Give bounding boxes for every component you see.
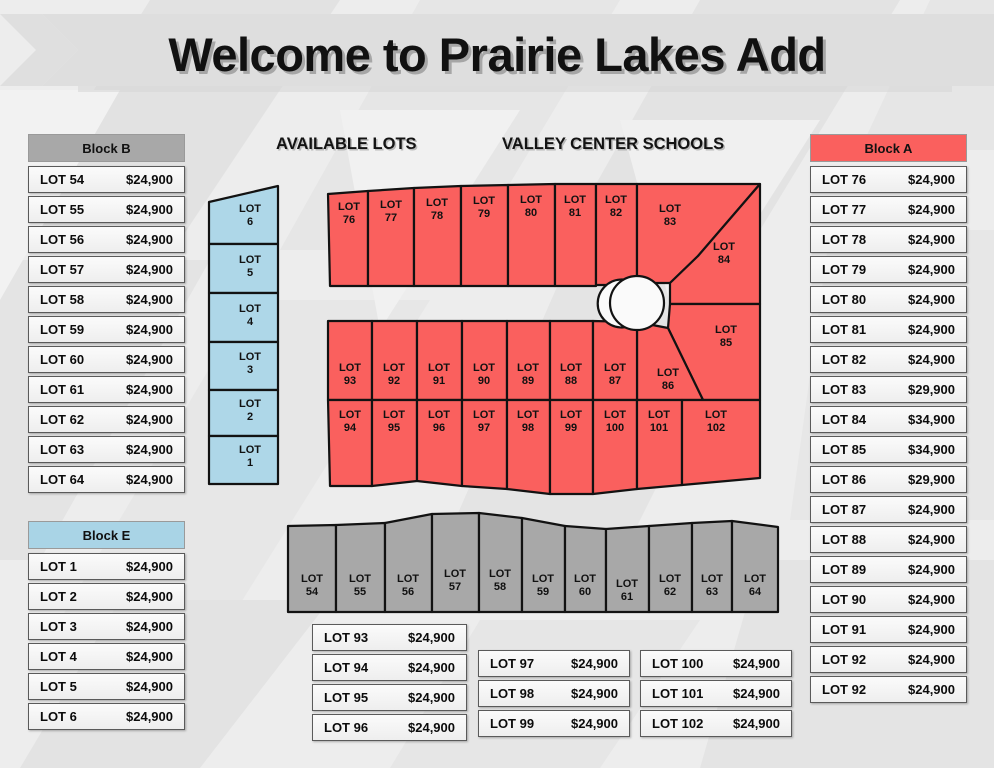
plat-block-a-bottom-row[interactable]: LOT 94 LOT 95 LOT 96 LOT 97 LOT 98 LOT 9… — [328, 400, 760, 494]
plat-label-lot-94-num: 94 — [344, 422, 357, 434]
plat-label-lot-83: LOT — [659, 203, 681, 215]
title-banner: Welcome to Prairie Lakes Add — [0, 8, 994, 100]
lots-97-99-price-value: $24,900 — [571, 686, 618, 701]
plat-label-lot-89: LOT — [517, 362, 539, 374]
plat-label-lot-81: LOT — [564, 194, 586, 206]
block-e-price-value: $24,900 — [126, 559, 173, 574]
plat-block-b-row[interactable]: LOT 54 LOT 55 LOT 56 LOT 57 LOT 58 LOT 5… — [288, 513, 778, 612]
plat-label-lot-86: LOT — [657, 367, 679, 379]
block-a-lot-label: LOT 85 — [822, 442, 866, 457]
plat-label-lot-4-num: 4 — [247, 316, 254, 328]
block-a-price-value: $24,900 — [908, 202, 955, 217]
plat-label-lot-100-num: 100 — [606, 422, 624, 434]
table-row[interactable]: LOT 97$24,900 — [478, 650, 630, 677]
plat-label-lot-87-num: 87 — [609, 375, 621, 387]
lots-93-96-lot-label: LOT 93 — [324, 630, 368, 645]
table-block-e-header: Block E — [28, 521, 185, 549]
block-b-lot-label: LOT 61 — [40, 382, 84, 397]
table-row[interactable]: LOT 57$24,900 — [28, 256, 185, 283]
table-row[interactable]: LOT 99$24,900 — [478, 710, 630, 737]
plat-label-lot-89-num: 89 — [522, 375, 534, 387]
plat-label-lot-86-num: 86 — [662, 380, 674, 392]
table-lots-100-102-rows: LOT 100$24,900LOT 101$24,900LOT 102$24,9… — [640, 650, 792, 737]
table-row[interactable]: LOT 88$24,900 — [810, 526, 967, 553]
plat-lot-62[interactable] — [649, 523, 692, 612]
table-row[interactable]: LOT 58$24,900 — [28, 286, 185, 313]
plat-label-lot-2-num: 2 — [247, 411, 253, 423]
table-block-a-header: Block A — [810, 134, 967, 162]
block-a-lot-label: LOT 78 — [822, 232, 866, 247]
plat-label-lot-92-num: 92 — [388, 375, 400, 387]
plat-label-lot-2: LOT — [239, 398, 261, 410]
lots-93-96-price-value: $24,900 — [408, 720, 455, 735]
plat-lot-2[interactable] — [209, 390, 278, 436]
lots-97-99-lot-label: LOT 97 — [490, 656, 534, 671]
block-e-price-value: $24,900 — [126, 679, 173, 694]
plat-label-lot-83-num: 83 — [664, 216, 676, 228]
plat-block-e-strip[interactable]: LOT 6 LOT 5 LOT 4 LOT 3 LOT 2 LOT 1 — [209, 186, 278, 484]
table-row[interactable]: LOT 81$24,900 — [810, 316, 967, 343]
block-a-lot-label: LOT 92 — [822, 652, 866, 667]
plat-label-lot-81-num: 81 — [569, 207, 581, 219]
block-a-price-value: $24,900 — [908, 562, 955, 577]
plat-label-lot-82: LOT — [605, 194, 627, 206]
plat-label-lot-102-num: 102 — [707, 422, 725, 434]
table-block-e: Block E LOT 1$24,900LOT 2$24,900LOT 3$24… — [28, 521, 185, 733]
plat-label-lot-98: LOT — [517, 409, 539, 421]
table-row[interactable]: LOT 84$34,900 — [810, 406, 967, 433]
block-b-price-value: $24,900 — [126, 442, 173, 457]
plat-label-lot-99: LOT — [560, 409, 582, 421]
block-a-lot-label: LOT 76 — [822, 172, 866, 187]
block-e-lot-label: LOT 4 — [40, 649, 77, 664]
table-row[interactable]: LOT 96$24,900 — [312, 714, 467, 741]
plat-label-lot-90-num: 90 — [478, 375, 490, 387]
plat-label-lot-88: LOT — [560, 362, 582, 374]
block-e-price-value: $24,900 — [126, 649, 173, 664]
plat-lot-89[interactable] — [507, 321, 550, 400]
block-b-price-value: $24,900 — [126, 232, 173, 247]
plat-label-lot-1: LOT — [239, 444, 261, 456]
table-row[interactable]: LOT 54$24,900 — [28, 166, 185, 193]
plat-map[interactable]: LOT 6 LOT 5 LOT 4 LOT 3 LOT 2 LOT 1 LOT … — [200, 178, 800, 628]
table-row[interactable]: LOT 94$24,900 — [312, 654, 467, 681]
table-row[interactable]: LOT 5$24,900 — [28, 673, 185, 700]
table-row[interactable]: LOT 86$29,900 — [810, 466, 967, 493]
lots-93-96-lot-label: LOT 94 — [324, 660, 368, 675]
table-row[interactable]: LOT 1$24,900 — [28, 553, 185, 580]
block-b-price-value: $24,900 — [126, 412, 173, 427]
block-b-price-value: $24,900 — [126, 352, 173, 367]
lots-100-102-price-value: $24,900 — [733, 716, 780, 731]
plat-label-lot-99-num: 99 — [565, 422, 577, 434]
plat-label-lot-85: LOT — [715, 324, 737, 336]
block-a-price-value: $24,900 — [908, 502, 955, 517]
table-block-b-header: Block B — [28, 134, 185, 162]
plat-label-lot-3: LOT — [239, 351, 261, 363]
plat-label-lot-64-num: 64 — [749, 586, 762, 598]
block-a-price-value: $24,900 — [908, 232, 955, 247]
block-b-lot-label: LOT 57 — [40, 262, 84, 277]
table-lots-100-102: LOT 100$24,900LOT 101$24,900LOT 102$24,9… — [640, 650, 792, 740]
plat-label-lot-96: LOT — [428, 409, 450, 421]
table-row[interactable]: LOT 83$29,900 — [810, 376, 967, 403]
plat-label-lot-90: LOT — [473, 362, 495, 374]
plat-label-lot-3-num: 3 — [247, 364, 253, 376]
plat-label-lot-64: LOT — [744, 573, 766, 585]
block-a-price-value: $29,900 — [908, 472, 955, 487]
plat-label-lot-60-num: 60 — [579, 586, 591, 598]
table-row[interactable]: LOT 90$24,900 — [810, 586, 967, 613]
block-a-price-value: $34,900 — [908, 412, 955, 427]
block-b-lot-label: LOT 60 — [40, 352, 84, 367]
block-e-price-value: $24,900 — [126, 619, 173, 634]
plat-label-lot-57: LOT — [444, 568, 466, 580]
block-b-price-value: $24,900 — [126, 202, 173, 217]
block-a-lot-label: LOT 77 — [822, 202, 866, 217]
plat-lot-54[interactable] — [288, 525, 336, 612]
plat-label-lot-80: LOT — [520, 194, 542, 206]
table-row[interactable]: LOT 77$24,900 — [810, 196, 967, 223]
plat-label-lot-79-num: 79 — [478, 208, 490, 220]
table-lots-97-99: LOT 97$24,900LOT 98$24,900LOT 99$24,900 — [478, 650, 630, 740]
plat-label-lot-93: LOT — [339, 362, 361, 374]
plat-label-lot-98-num: 98 — [522, 422, 534, 434]
table-row[interactable]: LOT 61$24,900 — [28, 376, 185, 403]
plat-lot-63[interactable] — [692, 521, 732, 612]
plat-label-lot-96-num: 96 — [433, 422, 445, 434]
page-title: Welcome to Prairie Lakes Add — [0, 8, 994, 100]
block-a-lot-label: LOT 79 — [822, 262, 866, 277]
plat-block-a-middle-row[interactable]: LOT 93 LOT 92 LOT 91 LOT 90 LOT 89 LOT 8… — [328, 321, 637, 400]
table-row[interactable]: LOT 87$24,900 — [810, 496, 967, 523]
block-a-price-value: $24,900 — [908, 352, 955, 367]
plat-lot-87[interactable] — [593, 321, 637, 400]
plat-label-lot-63: LOT — [701, 573, 723, 585]
table-row[interactable]: LOT 89$24,900 — [810, 556, 967, 583]
lots-93-96-price-value: $24,900 — [408, 690, 455, 705]
plat-label-lot-100: LOT — [604, 409, 626, 421]
lots-100-102-lot-label: LOT 100 — [652, 656, 703, 671]
plat-lot-90[interactable] — [462, 321, 507, 400]
table-block-a: Block A LOT 76$24,900LOT 77$24,900LOT 78… — [810, 134, 967, 706]
plat-label-lot-97: LOT — [473, 409, 495, 421]
block-a-lot-label: LOT 90 — [822, 592, 866, 607]
table-row[interactable]: LOT 78$24,900 — [810, 226, 967, 253]
block-a-lot-label: LOT 82 — [822, 352, 866, 367]
block-b-price-value: $24,900 — [126, 472, 173, 487]
block-b-price-value: $24,900 — [126, 322, 173, 337]
plat-label-lot-78-num: 78 — [431, 210, 443, 222]
plat-label-lot-6: LOT — [239, 203, 261, 215]
table-block-e-rows: LOT 1$24,900LOT 2$24,900LOT 3$24,900LOT … — [28, 553, 185, 730]
table-block-b-rows: LOT 54$24,900LOT 55$24,900LOT 56$24,900L… — [28, 166, 185, 493]
plat-label-lot-6-num: 6 — [247, 216, 253, 228]
block-b-lot-label: LOT 55 — [40, 202, 84, 217]
table-row[interactable]: LOT 55$24,900 — [28, 196, 185, 223]
table-row[interactable]: LOT 56$24,900 — [28, 226, 185, 253]
plat-label-lot-95-num: 95 — [388, 422, 400, 434]
block-e-lot-label: LOT 2 — [40, 589, 77, 604]
block-a-price-value: $24,900 — [908, 682, 955, 697]
table-lots-93-96: LOT 93$24,900LOT 94$24,900LOT 95$24,900L… — [312, 624, 467, 744]
plat-label-lot-5-num: 5 — [247, 267, 253, 279]
table-row[interactable]: LOT 76$24,900 — [810, 166, 967, 193]
block-a-price-value: $24,900 — [908, 172, 955, 187]
table-row[interactable]: LOT 80$24,900 — [810, 286, 967, 313]
block-e-lot-label: LOT 1 — [40, 559, 77, 574]
table-block-b: Block B LOT 54$24,900LOT 55$24,900LOT 56… — [28, 134, 185, 496]
block-b-lot-label: LOT 54 — [40, 172, 84, 187]
lots-100-102-lot-label: LOT 101 — [652, 686, 703, 701]
plat-label-lot-55-num: 55 — [354, 586, 366, 598]
table-row[interactable]: LOT 60$24,900 — [28, 346, 185, 373]
block-a-lot-label: LOT 92 — [822, 682, 866, 697]
plat-label-lot-77-num: 77 — [385, 212, 397, 224]
table-row[interactable]: LOT 2$24,900 — [28, 583, 185, 610]
block-e-price-value: $24,900 — [126, 589, 173, 604]
block-b-lot-label: LOT 63 — [40, 442, 84, 457]
plat-label-lot-5: LOT — [239, 254, 261, 266]
lots-93-96-price-value: $24,900 — [408, 660, 455, 675]
block-a-lot-label: LOT 80 — [822, 292, 866, 307]
block-a-lot-label: LOT 88 — [822, 532, 866, 547]
lots-93-96-lot-label: LOT 96 — [324, 720, 368, 735]
block-a-price-value: $24,900 — [908, 322, 955, 337]
block-a-price-value: $24,900 — [908, 652, 955, 667]
plat-label-lot-78: LOT — [426, 197, 448, 209]
block-a-price-value: $24,900 — [908, 622, 955, 637]
table-lots-97-99-rows: LOT 97$24,900LOT 98$24,900LOT 99$24,900 — [478, 650, 630, 737]
block-a-price-value: $24,900 — [908, 262, 955, 277]
lots-97-99-price-value: $24,900 — [571, 716, 618, 731]
plat-label-lot-95: LOT — [383, 409, 405, 421]
plat-lot-93[interactable] — [328, 321, 372, 400]
block-b-price-value: $24,900 — [126, 292, 173, 307]
plat-label-lot-57-num: 57 — [449, 581, 461, 593]
block-e-price-value: $24,900 — [126, 709, 173, 724]
table-row[interactable]: LOT 100$24,900 — [640, 650, 792, 677]
plat-label-lot-82-num: 82 — [610, 207, 622, 219]
plat-label-lot-58-num: 58 — [494, 581, 506, 593]
table-row[interactable]: LOT 91$24,900 — [810, 616, 967, 643]
lots-93-96-price-value: $24,900 — [408, 630, 455, 645]
table-row[interactable]: LOT 4$24,900 — [28, 643, 185, 670]
table-row[interactable]: LOT 59$24,900 — [28, 316, 185, 343]
block-a-lot-label: LOT 84 — [822, 412, 866, 427]
heading-available-lots: AVAILABLE LOTS — [276, 135, 417, 154]
table-row[interactable]: LOT 82$24,900 — [810, 346, 967, 373]
plat-label-lot-101-num: 101 — [650, 422, 668, 434]
lots-93-96-lot-label: LOT 95 — [324, 690, 368, 705]
table-row[interactable]: LOT 101$24,900 — [640, 680, 792, 707]
cul-de-sac-bulb — [598, 276, 664, 330]
table-row[interactable]: LOT 6$24,900 — [28, 703, 185, 730]
block-a-lot-label: LOT 91 — [822, 622, 866, 637]
block-a-price-value: $24,900 — [908, 292, 955, 307]
plat-lot-6[interactable] — [209, 186, 278, 244]
table-row[interactable]: LOT 102$24,900 — [640, 710, 792, 737]
plat-label-lot-56-num: 56 — [402, 586, 414, 598]
block-a-price-value: $29,900 — [908, 382, 955, 397]
plat-lot-5[interactable] — [209, 244, 278, 293]
plat-label-lot-84-num: 84 — [718, 254, 731, 266]
plat-label-lot-94: LOT — [339, 409, 361, 421]
plat-label-lot-87: LOT — [604, 362, 626, 374]
plat-label-lot-58: LOT — [489, 568, 511, 580]
block-a-price-value: $34,900 — [908, 442, 955, 457]
block-b-lot-label: LOT 56 — [40, 232, 84, 247]
heading-school-district: VALLEY CENTER SCHOOLS — [502, 135, 724, 154]
plat-lot-4[interactable] — [209, 293, 278, 342]
table-row[interactable]: LOT 85$34,900 — [810, 436, 967, 463]
block-e-lot-label: LOT 5 — [40, 679, 77, 694]
plat-label-lot-88-num: 88 — [565, 375, 577, 387]
plat-label-lot-61-num: 61 — [621, 591, 633, 603]
plat-label-lot-59: LOT — [532, 573, 554, 585]
plat-lot-55[interactable] — [336, 523, 385, 612]
block-e-lot-label: LOT 6 — [40, 709, 77, 724]
table-row[interactable]: LOT 92$24,900 — [810, 646, 967, 673]
block-b-price-value: $24,900 — [126, 382, 173, 397]
plat-label-lot-61: LOT — [616, 578, 638, 590]
plat-block-a-top-row[interactable]: LOT 76 LOT 77 LOT 78 LOT 79 LOT 80 LOT 8… — [328, 184, 637, 286]
table-row[interactable]: LOT 62$24,900 — [28, 406, 185, 433]
block-b-lot-label: LOT 58 — [40, 292, 84, 307]
plat-label-lot-101: LOT — [648, 409, 670, 421]
plat-label-lot-54-num: 54 — [306, 586, 319, 598]
block-a-lot-label: LOT 87 — [822, 502, 866, 517]
table-row[interactable]: LOT 63$24,900 — [28, 436, 185, 463]
plat-label-lot-55: LOT — [349, 573, 371, 585]
lots-100-102-price-value: $24,900 — [733, 656, 780, 671]
plat-lot-60[interactable] — [565, 526, 606, 612]
table-row[interactable]: LOT 93$24,900 — [312, 624, 467, 651]
lots-97-99-lot-label: LOT 98 — [490, 686, 534, 701]
plat-label-lot-91: LOT — [428, 362, 450, 374]
block-b-price-value: $24,900 — [126, 262, 173, 277]
plat-lot-91[interactable] — [417, 321, 462, 400]
block-a-lot-label: LOT 83 — [822, 382, 866, 397]
plat-label-lot-97-num: 97 — [478, 422, 490, 434]
plat-lot-3[interactable] — [209, 342, 278, 390]
plat-label-lot-79: LOT — [473, 195, 495, 207]
plat-label-lot-85-num: 85 — [720, 337, 732, 349]
block-e-lot-label: LOT 3 — [40, 619, 77, 634]
plat-lot-64[interactable] — [732, 521, 778, 612]
plat-label-lot-102: LOT — [705, 409, 727, 421]
lots-97-99-lot-label: LOT 99 — [490, 716, 534, 731]
plat-label-lot-93-num: 93 — [344, 375, 356, 387]
lots-100-102-price-value: $24,900 — [733, 686, 780, 701]
table-row[interactable]: LOT 92$24,900 — [810, 676, 967, 703]
plat-label-lot-56: LOT — [397, 573, 419, 585]
lots-97-99-price-value: $24,900 — [571, 656, 618, 671]
plat-label-lot-4: LOT — [239, 303, 261, 315]
block-a-price-value: $24,900 — [908, 532, 955, 547]
plat-label-lot-1-num: 1 — [247, 457, 253, 469]
plat-label-lot-84: LOT — [713, 241, 735, 253]
block-a-lot-label: LOT 86 — [822, 472, 866, 487]
table-lots-93-96-rows: LOT 93$24,900LOT 94$24,900LOT 95$24,900L… — [312, 624, 467, 741]
table-row[interactable]: LOT 79$24,900 — [810, 256, 967, 283]
plat-label-lot-92: LOT — [383, 362, 405, 374]
plat-label-lot-60: LOT — [574, 573, 596, 585]
block-b-price-value: $24,900 — [126, 172, 173, 187]
plat-lot-88[interactable] — [550, 321, 593, 400]
table-row[interactable]: LOT 98$24,900 — [478, 680, 630, 707]
plat-label-lot-54: LOT — [301, 573, 323, 585]
table-row[interactable]: LOT 3$24,900 — [28, 613, 185, 640]
table-block-a-rows: LOT 76$24,900LOT 77$24,900LOT 78$24,900L… — [810, 166, 967, 703]
plat-label-lot-62-num: 62 — [664, 586, 676, 598]
plat-label-lot-76-num: 76 — [343, 214, 355, 226]
plat-label-lot-59-num: 59 — [537, 586, 549, 598]
block-a-price-value: $24,900 — [908, 592, 955, 607]
plat-label-lot-80-num: 80 — [525, 207, 537, 219]
lots-100-102-lot-label: LOT 102 — [652, 716, 703, 731]
plat-label-lot-91-num: 91 — [433, 375, 445, 387]
block-a-lot-label: LOT 89 — [822, 562, 866, 577]
block-b-lot-label: LOT 59 — [40, 322, 84, 337]
plat-lot-57[interactable] — [432, 513, 479, 612]
table-row[interactable]: LOT 64$24,900 — [28, 466, 185, 493]
block-b-lot-label: LOT 64 — [40, 472, 84, 487]
table-row[interactable]: LOT 95$24,900 — [312, 684, 467, 711]
plat-label-lot-77: LOT — [380, 199, 402, 211]
plat-label-lot-63-num: 63 — [706, 586, 718, 598]
block-b-lot-label: LOT 62 — [40, 412, 84, 427]
plat-label-lot-76: LOT — [338, 201, 360, 213]
plat-label-lot-62: LOT — [659, 573, 681, 585]
plat-lot-58[interactable] — [479, 513, 522, 612]
block-a-lot-label: LOT 81 — [822, 322, 866, 337]
plat-lot-92[interactable] — [372, 321, 417, 400]
